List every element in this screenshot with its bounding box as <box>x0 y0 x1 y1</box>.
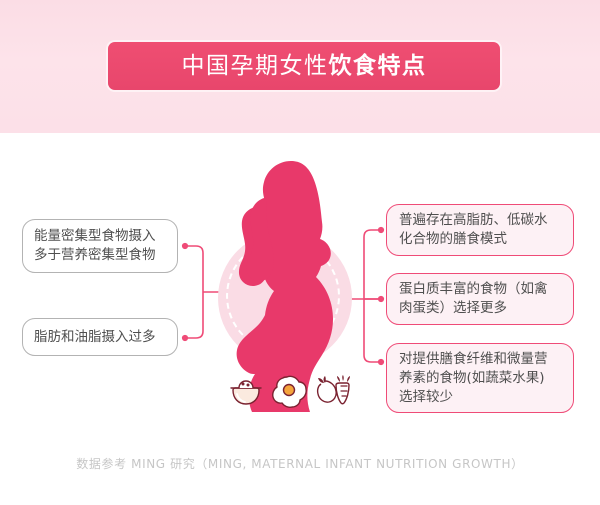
dot-left-1 <box>182 243 188 249</box>
right-bracket <box>364 230 378 362</box>
left-point-2[interactable]: 脂肪和油脂摄入过多 <box>22 318 178 356</box>
food-icons-row <box>228 374 352 408</box>
right-point-3[interactable]: 对提供膳食纤维和微量营 养素的食物(如蔬菜水果) 选择较少 <box>386 343 574 413</box>
left-point-1[interactable]: 能量密集型食物摄入 多于营养密集型食物 <box>22 219 178 273</box>
dot-right-1 <box>378 227 384 233</box>
vegetables-icon <box>318 375 350 404</box>
infographic-canvas: 中国孕期女性饮食特点 <box>0 0 600 505</box>
dot-right-3 <box>378 359 384 365</box>
right-point-2-text: 蛋白质丰富的食物（如禽 肉蛋类）选择更多 <box>399 280 548 318</box>
right-point-1[interactable]: 普遍存在高脂肪、低碳水 化合物的膳食模式 <box>386 204 574 256</box>
left-point-2-text: 脂肪和油脂摄入过多 <box>34 328 156 347</box>
left-bracket <box>188 246 203 338</box>
left-point-1-text: 能量密集型食物摄入 多于营养密集型食物 <box>34 227 156 265</box>
right-point-2[interactable]: 蛋白质丰富的食物（如禽 肉蛋类）选择更多 <box>386 273 574 325</box>
dot-left-2 <box>182 335 188 341</box>
rice-bowl-icon <box>231 381 261 404</box>
right-point-3-text: 对提供膳食纤维和微量营 养素的食物(如蔬菜水果) 选择较少 <box>399 350 548 407</box>
source-note: 数据参考 MING 研究（MING, MATERNAL INFANT NUTRI… <box>0 455 600 472</box>
right-point-1-text: 普遍存在高脂肪、低碳水 化合物的膳食模式 <box>399 211 548 249</box>
fried-egg-icon <box>273 376 306 407</box>
dot-right-2 <box>378 296 384 302</box>
